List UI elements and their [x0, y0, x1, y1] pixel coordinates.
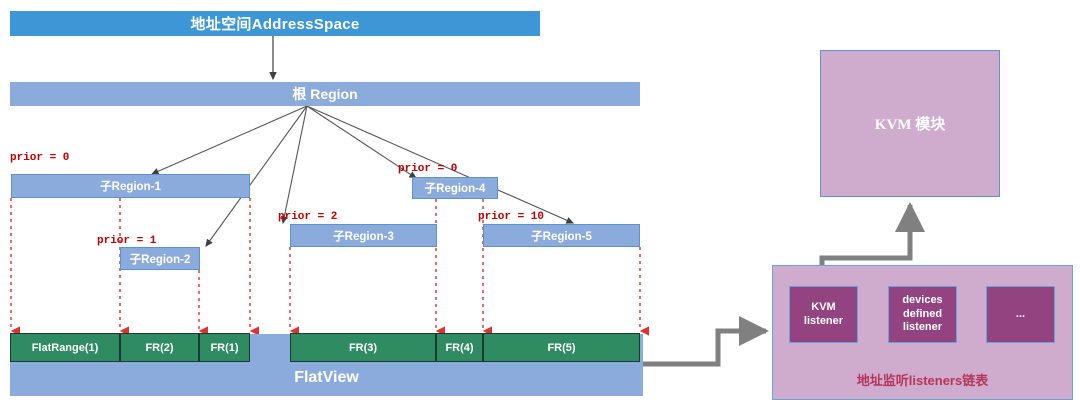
flat-range-6[interactable]: FR(5) [483, 333, 640, 362]
sub-region-4-priority: prior = 0 [398, 163, 457, 175]
sub-region-4-box[interactable]: 子Region-4 [412, 177, 498, 199]
listeners-panel: KVM listener devices defined listener ..… [772, 265, 1073, 400]
sub-region-3-box[interactable]: 子Region-3 [290, 224, 437, 247]
sub-region-2-priority: prior = 1 [97, 235, 156, 247]
diagram-canvas: 地址空间AddressSpace 根 Region 子Region-1 prio… [0, 0, 1080, 406]
kvm-module-box[interactable]: KVM 模块 [820, 50, 1000, 197]
sub-region-1-box[interactable]: 子Region-1 [11, 174, 250, 198]
sub-region-1-priority: prior = 0 [10, 152, 69, 164]
root-region-box[interactable]: 根 Region [10, 82, 640, 106]
flat-range-2[interactable]: FR(2) [120, 333, 199, 362]
sub-region-3-priority: prior = 2 [278, 211, 337, 223]
more-listeners-box[interactable]: ... [986, 286, 1055, 343]
kvm-listener-box[interactable]: KVM listener [789, 286, 858, 343]
devices-defined-listener-box[interactable]: devices defined listener [888, 286, 957, 343]
address-space-box[interactable]: 地址空间AddressSpace [10, 11, 540, 36]
flat-range-5[interactable]: FR(4) [436, 333, 483, 362]
flat-range-1[interactable]: FlatRange(1) [10, 333, 120, 362]
flat-range-3[interactable]: FR(1) [199, 333, 250, 362]
flat-range-4[interactable]: FR(3) [290, 333, 436, 362]
sub-region-5-priority: prior = 10 [478, 211, 544, 223]
listeners-panel-caption: 地址监听listeners链表 [773, 370, 1072, 389]
sub-region-5-box[interactable]: 子Region-5 [483, 224, 640, 247]
sub-region-2-box[interactable]: 子Region-2 [120, 247, 200, 270]
